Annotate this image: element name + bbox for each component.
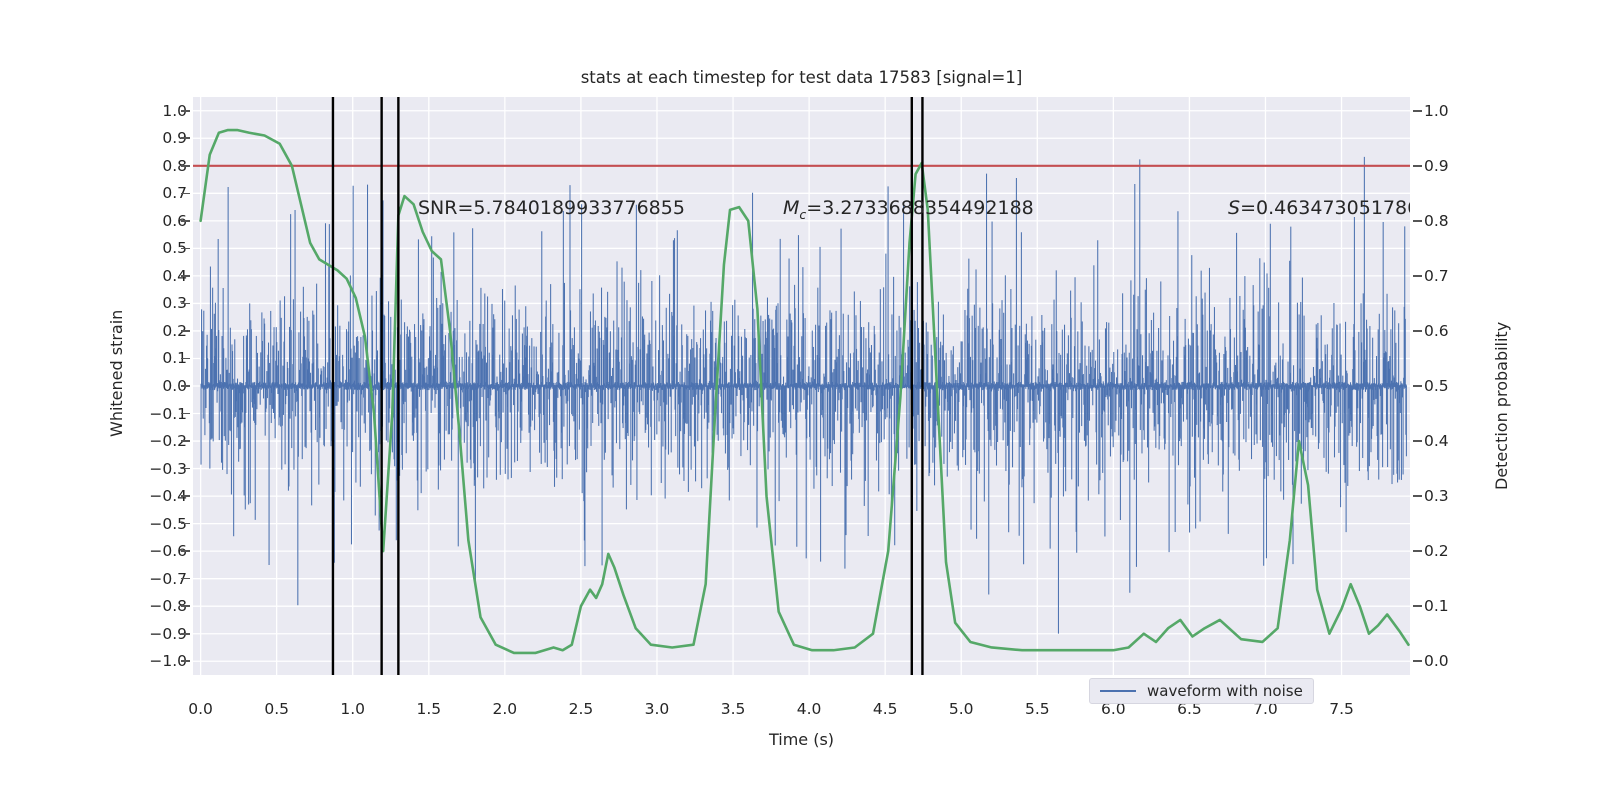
- y-tick-mark-right-0: [1413, 110, 1422, 112]
- y-tick-mark-left-5: [181, 248, 190, 250]
- y-tick-label-right-7: 0.3: [1424, 487, 1449, 505]
- y-tick-mark-left-4: [181, 220, 190, 222]
- plot-svg: [193, 97, 1410, 675]
- x-tick-label-2: 1.0: [340, 700, 365, 718]
- x-tick-label-0: 0.0: [188, 700, 213, 718]
- y-tick-mark-left-11: [181, 413, 190, 415]
- x-tick-label-7: 3.5: [721, 700, 746, 718]
- figure-canvas: stats at each timestep for test data 175…: [0, 0, 1600, 800]
- y-tick-mark-left-13: [181, 468, 190, 470]
- y-tick-mark-right-6: [1413, 440, 1422, 442]
- y-tick-label-right-5: 0.5: [1424, 377, 1449, 395]
- y-tick-label-right-6: 0.4: [1424, 432, 1449, 450]
- y-tick-label-right-2: 0.8: [1424, 212, 1449, 230]
- plot-area: SNR=5.7840189933776855 Mc=3.273368835449…: [193, 97, 1410, 675]
- y-tick-label-right-0: 1.0: [1424, 102, 1449, 120]
- y-tick-label-right-1: 0.9: [1424, 157, 1449, 175]
- y-tick-label-right-4: 0.6: [1424, 322, 1449, 340]
- y-tick-mark-left-7: [181, 303, 190, 305]
- y-tick-mark-right-2: [1413, 220, 1422, 222]
- legend-label-waveform: waveform with noise: [1147, 682, 1303, 700]
- legend-swatch-waveform: [1100, 690, 1136, 693]
- y-tick-mark-right-1: [1413, 165, 1422, 167]
- annotation-snr: SNR=5.7840189933776855: [418, 197, 685, 219]
- x-tick-label-3: 1.5: [416, 700, 441, 718]
- x-tick-label-11: 5.5: [1025, 700, 1050, 718]
- y-tick-mark-left-19: [181, 633, 190, 635]
- y-tick-mark-left-3: [181, 193, 190, 195]
- y-tick-mark-left-6: [181, 275, 190, 277]
- y-tick-mark-right-3: [1413, 275, 1422, 277]
- y-tick-mark-left-12: [181, 440, 190, 442]
- page-title: stats at each timestep for test data 175…: [193, 68, 1410, 87]
- y-tick-label-right-3: 0.7: [1424, 267, 1449, 285]
- y-tick-mark-left-1: [181, 137, 190, 139]
- y-tick-mark-left-9: [181, 358, 190, 360]
- legend: waveform with noise: [1089, 678, 1314, 704]
- y-tick-mark-left-20: [181, 660, 190, 662]
- y-tick-mark-right-9: [1413, 605, 1422, 607]
- y-tick-mark-left-15: [181, 523, 190, 525]
- y-tick-mark-right-5: [1413, 385, 1422, 387]
- x-tick-label-10: 5.0: [949, 700, 974, 718]
- x-tick-label-15: 7.5: [1329, 700, 1354, 718]
- y-tick-mark-left-0: [181, 110, 190, 112]
- y-tick-mark-left-14: [181, 495, 190, 497]
- x-tick-label-4: 2.0: [493, 700, 518, 718]
- annotation-chirp-mass: Mc=3.2733688354492188: [783, 197, 1034, 222]
- y-tick-mark-left-10: [181, 385, 190, 387]
- y-tick-label-right-8: 0.2: [1424, 542, 1449, 560]
- x-tick-label-8: 4.0: [797, 700, 822, 718]
- x-tick-label-1: 0.5: [264, 700, 289, 718]
- y-tick-mark-right-10: [1413, 660, 1422, 662]
- x-tick-label-6: 3.0: [645, 700, 670, 718]
- y-tick-mark-left-18: [181, 605, 190, 607]
- y-tick-mark-left-17: [181, 578, 190, 580]
- y-tick-mark-right-7: [1413, 495, 1422, 497]
- x-axis-label: Time (s): [193, 730, 1410, 749]
- y-tick-label-right-9: 0.1: [1424, 597, 1449, 615]
- x-tick-label-9: 4.5: [873, 700, 898, 718]
- x-tick-label-5: 2.5: [569, 700, 594, 718]
- y-tick-mark-left-16: [181, 550, 190, 552]
- y-axis-label-left: Whitened strain: [107, 310, 126, 437]
- y-tick-mark-left-2: [181, 165, 190, 167]
- y-axis-label-right: Detection probability: [1492, 322, 1511, 490]
- y-tick-mark-right-4: [1413, 330, 1422, 332]
- annotation-score: S=0.46347305178642273: [1228, 197, 1410, 219]
- y-tick-mark-left-8: [181, 330, 190, 332]
- y-tick-label-right-10: 0.0: [1424, 652, 1449, 670]
- y-tick-mark-right-8: [1413, 550, 1422, 552]
